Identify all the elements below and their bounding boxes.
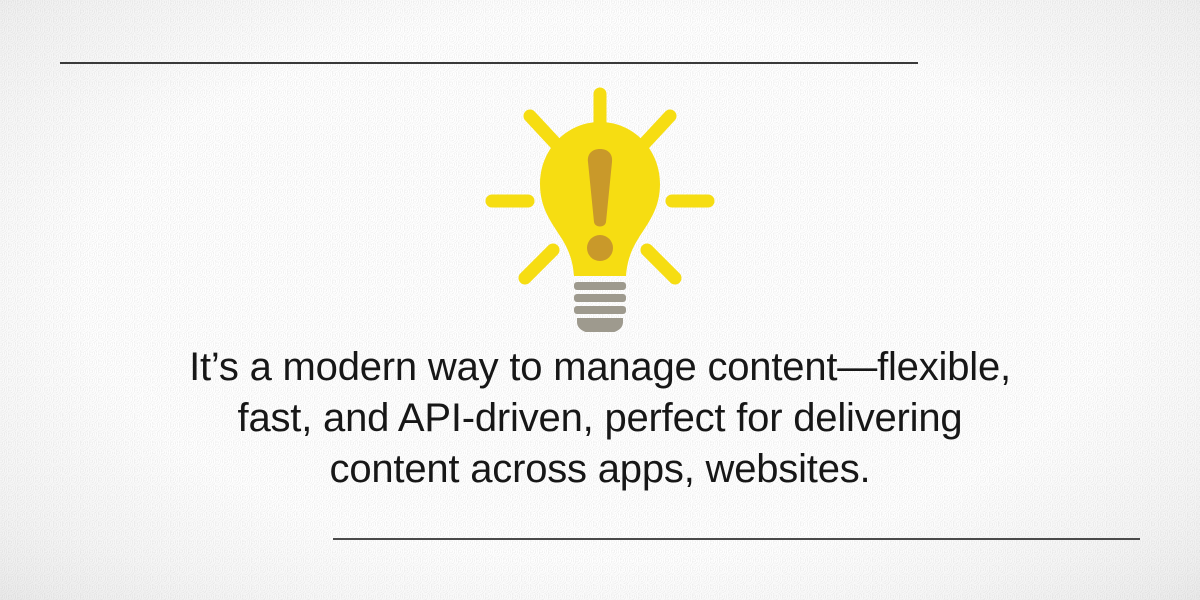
quote-line-2: fast, and API-driven, perfect for delive… — [120, 393, 1080, 444]
ray-bottom-right — [647, 250, 675, 278]
ray-top-right — [644, 116, 670, 144]
quote-line-1: It’s a modern way to manage content—flex… — [120, 342, 1080, 393]
bulb-base — [574, 282, 626, 332]
base-thread-2 — [574, 294, 626, 302]
base-thread-3 — [574, 306, 626, 314]
ray-bottom-left — [525, 250, 553, 278]
base-tip — [577, 318, 623, 332]
illustration-container — [0, 82, 1200, 332]
quote-text: It’s a modern way to manage content—flex… — [0, 342, 1200, 495]
top-divider — [60, 62, 918, 64]
base-thread-1 — [574, 282, 626, 290]
exclamation-dot — [587, 235, 613, 261]
bottom-divider — [333, 538, 1140, 540]
quote-line-3: content across apps, websites. — [120, 444, 1080, 495]
lightbulb-exclamation-icon — [480, 82, 720, 332]
quote-card: It’s a modern way to manage content—flex… — [0, 0, 1200, 600]
ray-top-left — [530, 116, 556, 144]
